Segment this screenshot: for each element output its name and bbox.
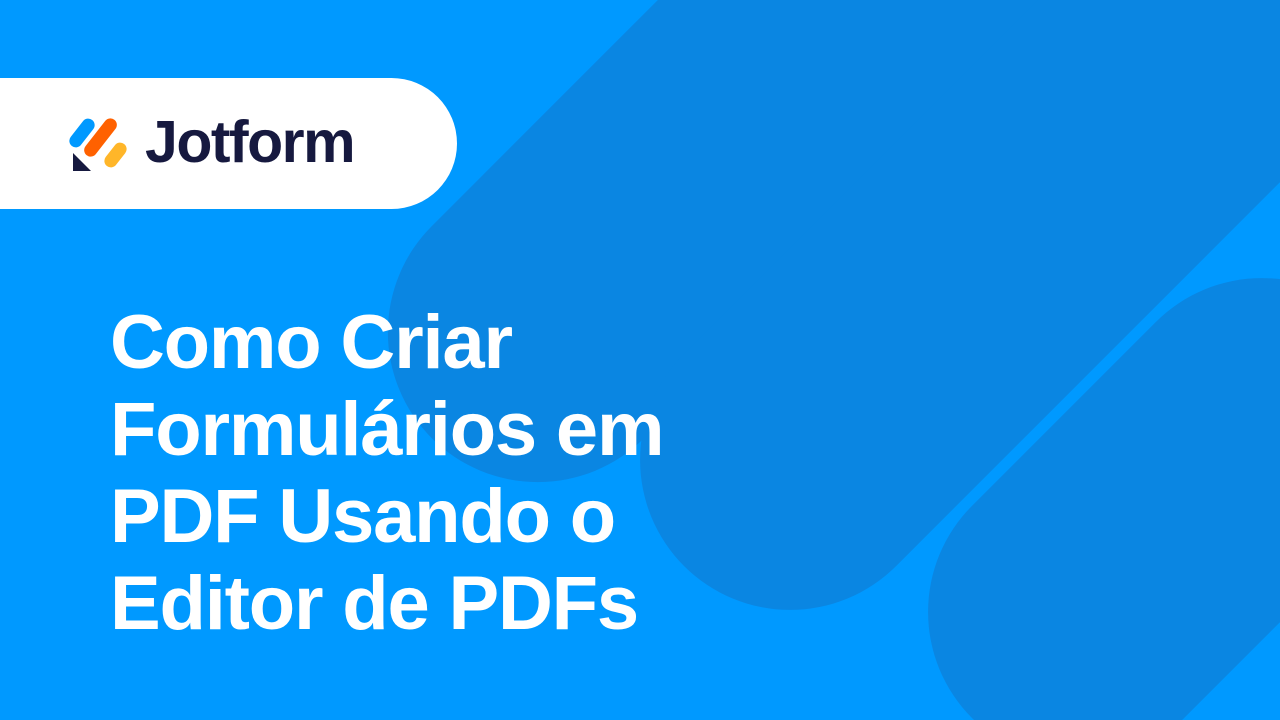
jotform-logo-mark (68, 115, 128, 175)
amber-stroke-shape (102, 139, 128, 169)
title-line-3: PDF Usando o (110, 473, 750, 560)
diagonal-bar-lower-right (866, 216, 1280, 720)
title-line-4: Editor de PDFs (110, 560, 750, 647)
title-card: Jotform Como Criar Formulários em PDF Us… (0, 0, 1280, 720)
page-title: Como Criar Formulários em PDF Usando o E… (110, 299, 750, 647)
title-line-2: Formulários em (110, 386, 750, 473)
title-line-1: Como Criar (110, 299, 750, 386)
brand-badge: Jotform (0, 78, 457, 209)
jotform-wordmark: Jotform (145, 113, 354, 172)
